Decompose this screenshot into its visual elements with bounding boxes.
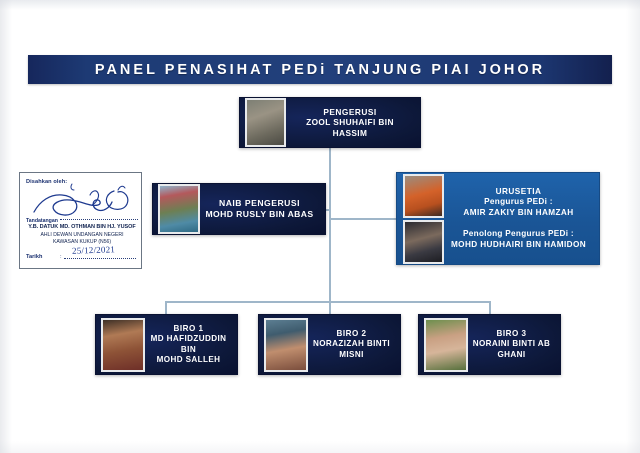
node-urusetia[interactable]: URUSETIA Pengurus PEDi : AMIR ZAKIY BIN … <box>396 172 600 265</box>
urusetia-photo-stack <box>403 178 444 259</box>
pengerusi-role: PENGERUSI <box>290 107 410 118</box>
biro-1-name-line2: MOHD SALLEH <box>149 355 228 365</box>
biro-3-name-line2: GHANI <box>472 350 551 360</box>
biro-2-labels: BIRO 2 NORAZIZAH BINTI MISNI <box>308 329 395 360</box>
naib-pengerusi-name: MOHD RUSLY BIN ABAS <box>204 209 315 220</box>
urusetia-manager-name: AMIR ZAKIY BIN HAMZAH <box>448 208 589 219</box>
biro-1-role: BIRO 1 <box>149 324 228 334</box>
biro-3-photo <box>424 318 468 372</box>
urusetia-manager-label: Pengurus PEDi : <box>448 197 589 208</box>
connector-drop-biro-3 <box>489 301 491 314</box>
naib-pengerusi-photo <box>158 184 200 234</box>
scanned-org-chart-page: PANEL PENASIHAT PEDi TANJUNG PIAI JOHOR … <box>0 0 640 453</box>
stamp-date-label: Tarikh <box>26 254 42 260</box>
stamp-official-name: Y.B. DATUK MD. OTHMAN BIN HJ. YUSOF <box>24 224 140 230</box>
page-title: PANEL PENASIHAT PEDi TANJUNG PIAI JOHOR <box>95 62 545 78</box>
urusetia-assistant-photo <box>403 220 444 264</box>
pengerusi-photo <box>245 98 286 147</box>
pengerusi-name: ZOOL SHUHAIFI BIN HASSIM <box>290 117 410 138</box>
page-title-banner: PANEL PENASIHAT PEDi TANJUNG PIAI JOHOR <box>28 55 612 84</box>
biro-2-name-line1: NORAZIZAH BINTI <box>312 339 391 349</box>
stamp-date-dotted-line <box>64 258 136 259</box>
node-biro-1[interactable]: BIRO 1 MD HAFIDZUDDIN BIN MOHD SALLEH <box>95 314 238 375</box>
connector-trunk-vertical <box>329 148 331 314</box>
biro-1-photo <box>101 318 145 372</box>
biro-3-labels: BIRO 3 NORAINI BINTI AB GHANI <box>468 329 555 360</box>
urusetia-assistant-label: Penolong Pengurus PEDi : <box>448 229 589 240</box>
naib-pengerusi-role: NAIB PENGERUSI <box>204 198 315 209</box>
pengerusi-labels: PENGERUSI ZOOL SHUHAIFI BIN HASSIM <box>286 107 414 139</box>
urusetia-labels: URUSETIA Pengurus PEDi : AMIR ZAKIY BIN … <box>444 178 593 259</box>
biro-1-name-line1: MD HAFIDZUDDIN BIN <box>149 334 228 355</box>
biro-2-photo <box>264 318 308 372</box>
urusetia-manager-group: URUSETIA Pengurus PEDi : AMIR ZAKIY BIN … <box>448 187 589 219</box>
biro-3-name-line1: NORAINI BINTI AB <box>472 339 551 349</box>
connector-branch-naib <box>326 209 331 211</box>
stamp-certified-by-label: Disahkan oleh: <box>26 179 67 185</box>
connector-branch-urusetia <box>329 218 397 220</box>
node-pengerusi[interactable]: PENGERUSI ZOOL SHUHAIFI BIN HASSIM <box>239 97 421 148</box>
biro-3-role: BIRO 3 <box>472 329 551 339</box>
stamp-official-title: AHLI DEWAN UNDANGAN NEGERI <box>24 232 140 238</box>
node-biro-2[interactable]: BIRO 2 NORAZIZAH BINTI MISNI <box>258 314 401 375</box>
connector-drop-biro-1 <box>165 301 167 314</box>
connector-distribution-bar <box>165 301 490 303</box>
biro-2-name-line2: MISNI <box>312 350 391 360</box>
naib-pengerusi-labels: NAIB PENGERUSI MOHD RUSLY BIN ABAS <box>200 198 319 220</box>
stamp-official-area: KAWASAN KUKUP (N56) <box>24 239 140 245</box>
urusetia-assistant-name: MOHD HUDHAIRI BIN HAMIDON <box>448 240 589 251</box>
verification-stamp-box: Disahkan oleh: Tandatangan Y.B. DATUK MD… <box>19 172 142 269</box>
urusetia-role: URUSETIA <box>448 187 589 198</box>
stamp-signature-dotted-line <box>60 219 138 220</box>
urusetia-assistant-group: Penolong Pengurus PEDi : MOHD HUDHAIRI B… <box>448 229 589 250</box>
node-biro-3[interactable]: BIRO 3 NORAINI BINTI AB GHANI <box>418 314 561 375</box>
biro-2-role: BIRO 2 <box>312 329 391 339</box>
urusetia-manager-photo <box>403 174 444 218</box>
stamp-date-value: 25/12/2021 <box>72 244 115 255</box>
stamp-date-colon: : <box>60 254 62 260</box>
biro-1-labels: BIRO 1 MD HAFIDZUDDIN BIN MOHD SALLEH <box>145 324 232 365</box>
node-naib-pengerusi[interactable]: NAIB PENGERUSI MOHD RUSLY BIN ABAS <box>152 183 326 235</box>
